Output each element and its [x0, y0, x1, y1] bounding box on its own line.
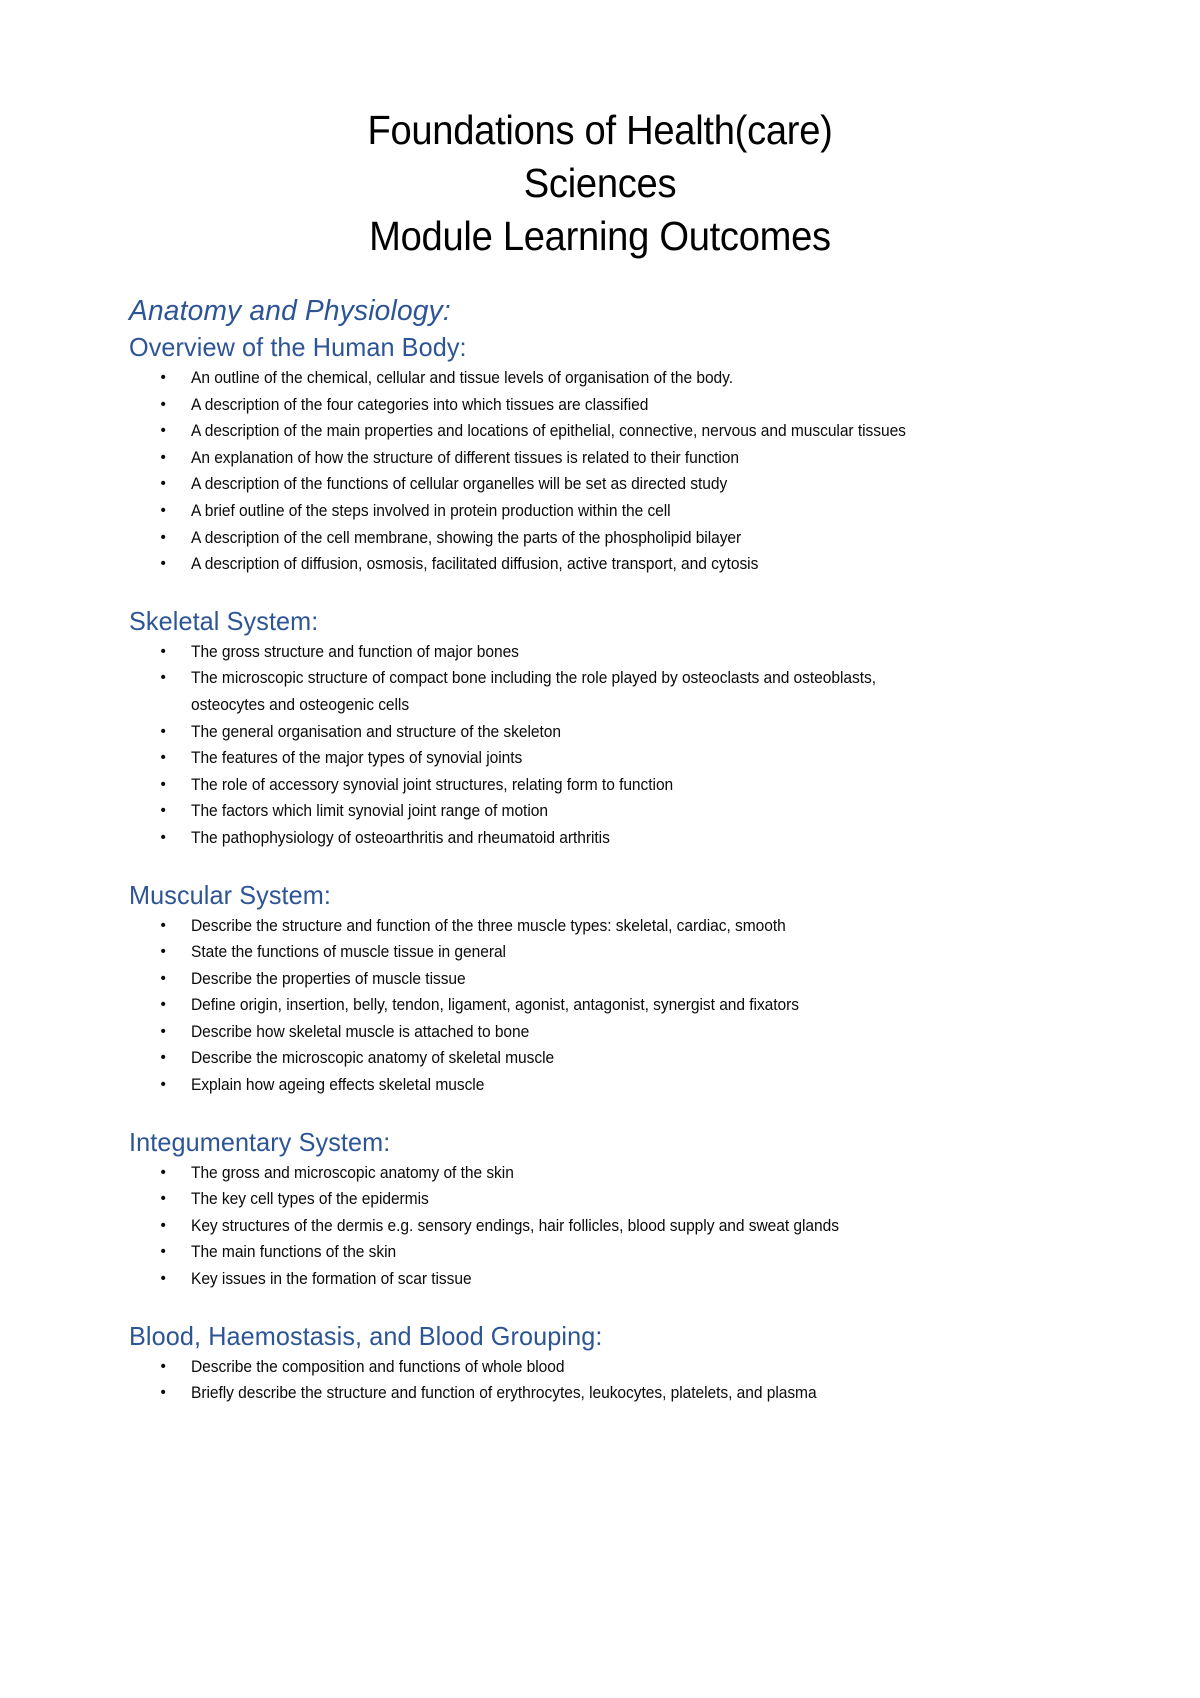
list-item: • State the functions of muscle tissue i… [0, 939, 1146, 966]
list-item-text: Describe the composition and functions o… [191, 1354, 945, 1381]
list-item: • Describe the composition and functions… [0, 1354, 1146, 1381]
list-item-text: State the functions of muscle tissue in … [191, 939, 945, 966]
list-item-text: An explanation of how the structure of d… [191, 445, 922, 472]
bullet-icon: • [160, 798, 173, 825]
subsection-heading-integumentary-system: Integumentary System: [0, 1099, 1164, 1160]
list-item: • The general organisation and structure… [0, 719, 1146, 746]
list-item: • A description of the four categories i… [0, 392, 1146, 419]
bullet-icon: • [160, 825, 173, 852]
list-item: • Describe the microscopic anatomy of sk… [0, 1045, 1146, 1072]
list-item-text: A description of the four categories int… [191, 392, 922, 419]
bullet-list-muscular: • Describe the structure and function of… [0, 913, 1200, 1099]
bullet-icon: • [160, 1266, 173, 1293]
list-item: • An outline of the chemical, cellular a… [0, 365, 1146, 392]
list-item: • Describe how skeletal muscle is attach… [0, 1019, 1146, 1046]
list-item-text: The gross structure and function of majo… [191, 639, 922, 666]
list-item-text: The key cell types of the epidermis [191, 1186, 922, 1213]
list-item: • A description of the cell membrane, sh… [0, 525, 1146, 552]
list-item-text: Briefly describe the structure and funct… [191, 1380, 945, 1407]
bullet-icon: • [160, 551, 173, 578]
subsection-heading-skeletal-system: Skeletal System: [0, 578, 1164, 639]
list-item: • Explain how ageing effects skeletal mu… [0, 1072, 1146, 1099]
title-line-1: Foundations of Health(care) [42, 104, 1158, 157]
list-item: • The pathophysiology of osteoarthritis … [0, 825, 1146, 852]
bullet-list-overview: • An outline of the chemical, cellular a… [0, 365, 1200, 578]
list-item-text: Key structures of the dermis e.g. sensor… [191, 1213, 922, 1240]
list-item: • Key issues in the formation of scar ti… [0, 1266, 1146, 1293]
list-item: • The features of the major types of syn… [0, 745, 1146, 772]
bullet-icon: • [160, 1380, 173, 1407]
list-item: • Key structures of the dermis e.g. sens… [0, 1213, 1146, 1240]
list-item: • The factors which limit synovial joint… [0, 798, 1146, 825]
list-item: • A description of the main properties a… [0, 418, 1146, 445]
list-item: • The role of accessory synovial joint s… [0, 772, 1146, 799]
list-item-text: An outline of the chemical, cellular and… [191, 365, 922, 392]
bullet-icon: • [160, 1239, 173, 1266]
section-heading-anatomy-and-physiology: Anatomy and Physiology: [0, 263, 1164, 328]
bullet-icon: • [160, 1072, 173, 1099]
bullet-icon: • [160, 1019, 173, 1046]
list-item-text: The general organisation and structure o… [191, 719, 922, 746]
bullet-icon: • [160, 365, 173, 392]
list-item: • A description of diffusion, osmosis, f… [0, 551, 1146, 578]
bullet-icon: • [160, 471, 173, 498]
bullet-icon: • [160, 445, 173, 472]
list-item-text: A description of the functions of cellul… [191, 471, 922, 498]
list-item-text: The microscopic structure of compact bon… [191, 665, 922, 718]
list-item: • A description of the functions of cell… [0, 471, 1146, 498]
list-item-text: The main functions of the skin [191, 1239, 922, 1266]
list-item-text: Describe the properties of muscle tissue [191, 966, 945, 993]
bullet-icon: • [160, 719, 173, 746]
subsection-heading-overview-of-the-human-body: Overview of the Human Body: [0, 328, 1164, 365]
list-item: • The microscopic structure of compact b… [0, 665, 1146, 718]
list-item-text: Describe how skeletal muscle is attached… [191, 1019, 945, 1046]
list-item: • The main functions of the skin [0, 1239, 1146, 1266]
list-item-text: A description of diffusion, osmosis, fac… [191, 551, 922, 578]
bullet-icon: • [160, 939, 173, 966]
bullet-icon: • [160, 1160, 173, 1187]
page-title: Foundations of Health(care) Sciences Mod… [42, 0, 1158, 263]
list-item-text: A brief outline of the steps involved in… [191, 498, 922, 525]
list-item-text: Define origin, insertion, belly, tendon,… [191, 992, 945, 1019]
bullet-list-integumentary: • The gross and microscopic anatomy of t… [0, 1160, 1200, 1293]
list-item-text: The gross and microscopic anatomy of the… [191, 1160, 922, 1187]
title-line-2: Sciences [42, 157, 1158, 210]
list-item-text: Describe the microscopic anatomy of skel… [191, 1045, 945, 1072]
bullet-icon: • [160, 992, 173, 1019]
list-item: • The key cell types of the epidermis [0, 1186, 1146, 1213]
bullet-icon: • [160, 498, 173, 525]
list-item-text: A description of the cell membrane, show… [191, 525, 922, 552]
bullet-icon: • [160, 418, 173, 445]
title-line-3: Module Learning Outcomes [42, 210, 1158, 263]
list-item: • Define origin, insertion, belly, tendo… [0, 992, 1146, 1019]
bullet-icon: • [160, 745, 173, 772]
bullet-icon: • [160, 1213, 173, 1240]
list-item: • The gross structure and function of ma… [0, 639, 1146, 666]
bullet-icon: • [160, 772, 173, 799]
list-item-text: The pathophysiology of osteoarthritis an… [191, 825, 922, 852]
list-item-text: Key issues in the formation of scar tiss… [191, 1266, 922, 1293]
document-content: Foundations of Health(care) Sciences Mod… [0, 0, 1200, 1407]
list-item: • Briefly describe the structure and fun… [0, 1380, 1146, 1407]
list-item: • The gross and microscopic anatomy of t… [0, 1160, 1146, 1187]
list-item: • A brief outline of the steps involved … [0, 498, 1146, 525]
list-item: • Describe the structure and function of… [0, 913, 1146, 940]
bullet-icon: • [160, 392, 173, 419]
list-item-text: The factors which limit synovial joint r… [191, 798, 922, 825]
list-item: • Describe the properties of muscle tiss… [0, 966, 1146, 993]
bullet-icon: • [160, 665, 173, 692]
bullet-icon: • [160, 1354, 173, 1381]
bullet-icon: • [160, 966, 173, 993]
bullet-icon: • [160, 1045, 173, 1072]
list-item: • An explanation of how the structure of… [0, 445, 1146, 472]
bullet-icon: • [160, 639, 173, 666]
list-item-text: Explain how ageing effects skeletal musc… [191, 1072, 945, 1099]
list-item-text: A description of the main properties and… [191, 418, 922, 445]
bullet-icon: • [160, 525, 173, 552]
bullet-icon: • [160, 913, 173, 940]
bullet-list-blood: • Describe the composition and functions… [0, 1354, 1200, 1407]
list-item-text: The features of the major types of synov… [191, 745, 922, 772]
list-item-text: The role of accessory synovial joint str… [191, 772, 922, 799]
bullet-icon: • [160, 1186, 173, 1213]
list-item-text: Describe the structure and function of t… [191, 913, 945, 940]
subsection-heading-muscular-system: Muscular System: [0, 852, 1164, 913]
subsection-heading-blood-haemostasis-and-blood-grouping: Blood, Haemostasis, and Blood Grouping: [0, 1293, 1164, 1354]
document-page: Foundations of Health(care) Sciences Mod… [0, 0, 1200, 1698]
bullet-list-skeletal: • The gross structure and function of ma… [0, 639, 1200, 852]
